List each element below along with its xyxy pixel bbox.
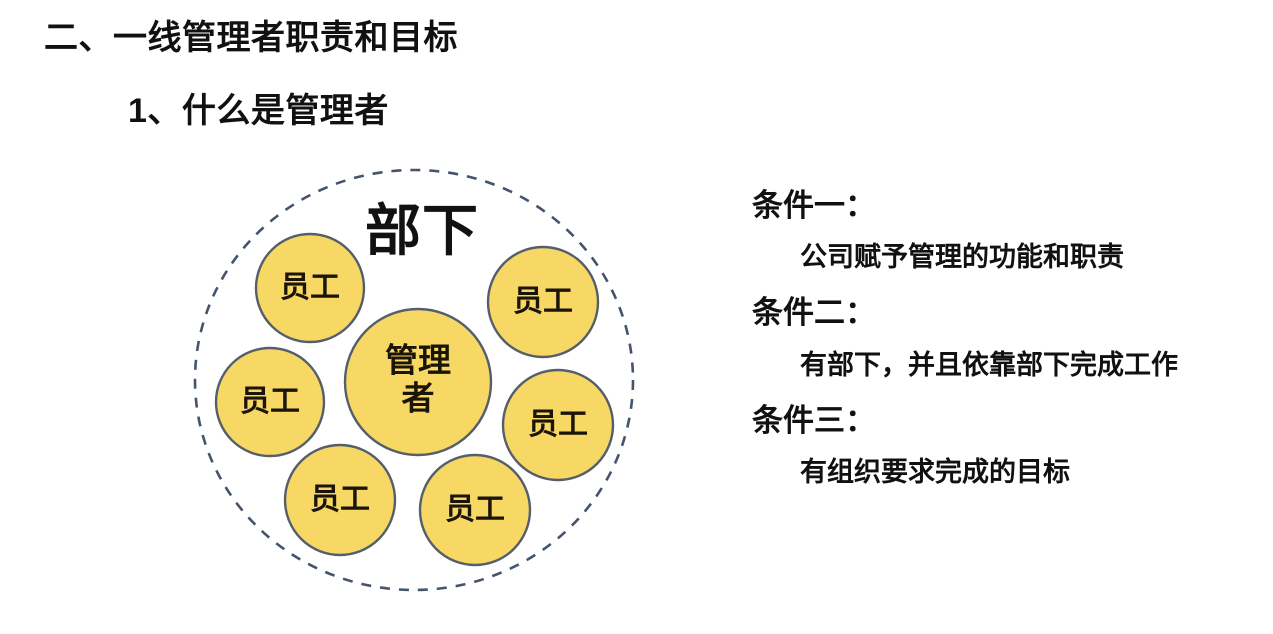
employee-node: 员工 [216, 348, 324, 456]
manager-subordinates-diagram: 管理者员工员工员工员工员工员工 部下 [180, 160, 650, 605]
employee-node: 员工 [503, 370, 613, 480]
condition-title: 条件三： [752, 401, 1252, 441]
condition-detail: 公司赋予管理的功能和职责 [800, 240, 1252, 275]
page-subtitle: 1、什么是管理者 [128, 83, 389, 132]
employee-node: 员工 [285, 445, 395, 555]
employee-node: 员工 [488, 247, 598, 357]
condition-title: 条件二： [752, 293, 1252, 333]
condition-block: 条件三：有组织要求完成的目标 [752, 401, 1252, 490]
group-label-buxia: 部下 [365, 199, 479, 262]
employee-circle-label: 员工 [528, 408, 588, 441]
employee-node: 员工 [420, 455, 530, 565]
slide-canvas: 二、一线管理者职责和目标 1、什么是管理者 管理者员工员工员工员工员工员工 部下… [0, 0, 1273, 634]
diagram-svg: 管理者员工员工员工员工员工员工 部下 [180, 160, 650, 605]
employee-circle-label: 员工 [310, 483, 370, 516]
condition-detail: 有部下，并且依靠部下完成工作 [800, 348, 1252, 383]
condition-block: 条件二：有部下，并且依靠部下完成工作 [752, 293, 1252, 382]
node-circles-layer: 管理者员工员工员工员工员工员工 [216, 234, 613, 565]
manager-circle-label: 管理 [385, 342, 451, 379]
employee-circle-label: 员工 [280, 271, 340, 304]
employee-circle-label: 员工 [240, 385, 300, 418]
conditions-list: 条件一：公司赋予管理的功能和职责条件二：有部下，并且依靠部下完成工作条件三：有组… [752, 186, 1252, 508]
employee-node: 员工 [256, 234, 364, 342]
employee-circle-label: 员工 [513, 285, 573, 318]
employee-circle-label: 员工 [445, 493, 505, 526]
manager-circle-label: 者 [402, 380, 435, 417]
page-title: 二、一线管理者职责和目标 [44, 10, 458, 59]
condition-title: 条件一： [752, 186, 1252, 226]
condition-detail: 有组织要求完成的目标 [800, 455, 1252, 490]
condition-block: 条件一：公司赋予管理的功能和职责 [752, 186, 1252, 275]
manager-node: 管理者 [345, 309, 491, 455]
